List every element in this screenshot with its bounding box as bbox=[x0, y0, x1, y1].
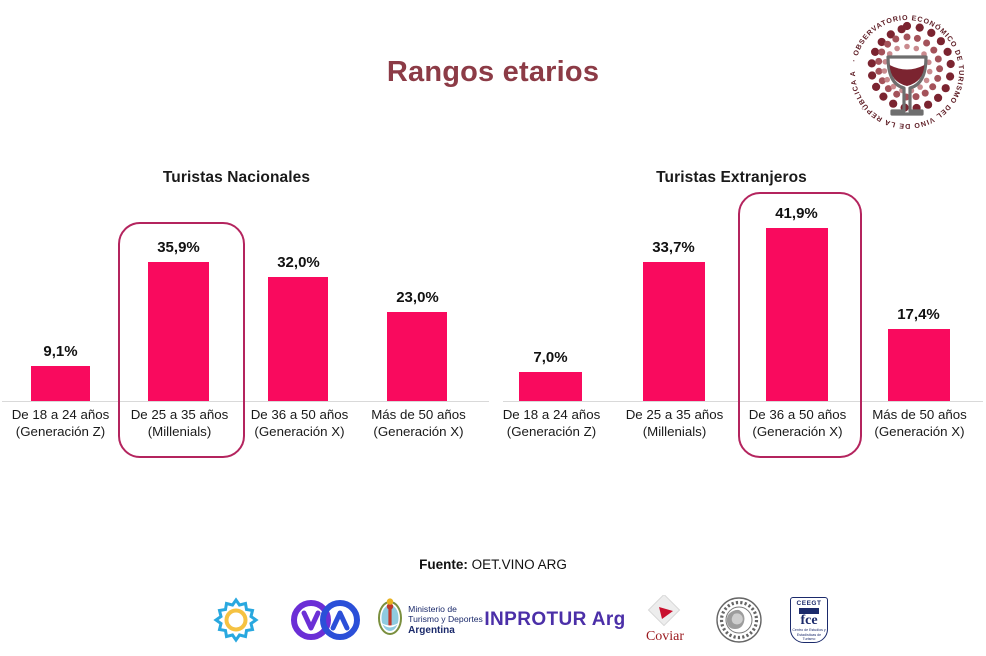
fce-label: fce bbox=[800, 614, 817, 628]
axis-baseline bbox=[503, 401, 983, 402]
bar-value-extranjeros-1: 33,7% bbox=[624, 239, 723, 256]
chart-panel-turistas-nacionales: Turistas Nacionales 9,1% 35,9% 32,0% 23,… bbox=[0, 160, 493, 460]
bar-value-nacionales-0: 9,1% bbox=[11, 343, 110, 360]
axis-baseline bbox=[2, 401, 489, 402]
bar-extranjeros-2[interactable] bbox=[766, 228, 828, 401]
bar-value-nacionales-3: 23,0% bbox=[368, 289, 467, 306]
cat-line2: (Millenials) bbox=[148, 424, 212, 439]
bar-value-nacionales-2: 32,0% bbox=[249, 254, 348, 271]
source-note: Fuente: OET.VINO ARG bbox=[0, 557, 986, 572]
coviar-logo: Coviar bbox=[632, 588, 698, 652]
inprotur-label: INPROTUR Arg bbox=[484, 609, 625, 631]
bar-value-nacionales-1: 35,9% bbox=[129, 239, 228, 256]
oet-vino-arg-seal-logo: · OBSERVATORIO ECONÓMICO DE TURISMO DEL … bbox=[843, 8, 971, 136]
footer-logo-strip: Ministerio de Turismo y Deportes Argenti… bbox=[0, 588, 986, 652]
bar-nacionales-0[interactable] bbox=[31, 366, 90, 401]
category-label-nacionales-0: De 18 a 24 años (Generación Z) bbox=[2, 406, 119, 440]
cat-line2: (Generación X) bbox=[874, 424, 964, 439]
visit-argentina-logo bbox=[285, 588, 367, 652]
bar-value-extranjeros-3: 17,4% bbox=[869, 306, 968, 323]
plot-area-nacionales: 9,1% 35,9% 32,0% 23,0% De 18 a 24 años (… bbox=[0, 160, 493, 460]
bar-nacionales-1[interactable] bbox=[148, 262, 209, 401]
ceegt-fce-logo: CEEGT fce Centro de Estudios y Estadísti… bbox=[778, 588, 840, 652]
ceegt-sub-label: Centro de Estudios y Estadísticas de Tur… bbox=[791, 628, 827, 642]
chart-panel-turistas-extranjeros: Turistas Extranjeros 7,0% 33,7% 41,9% 17… bbox=[493, 160, 986, 460]
cat-line1: De 36 a 50 años bbox=[749, 407, 847, 422]
cat-line1: De 25 a 35 años bbox=[131, 407, 229, 422]
universidad-seal-logo bbox=[706, 588, 772, 652]
source-value: OET.VINO ARG bbox=[472, 557, 567, 572]
category-label-extranjeros-1: De 25 a 35 años (Millenials) bbox=[616, 406, 733, 440]
plot-area-extranjeros: 7,0% 33,7% 41,9% 17,4% De 18 a 24 años (… bbox=[493, 160, 986, 460]
bar-value-extranjeros-2: 41,9% bbox=[747, 205, 846, 222]
sun-emblem-logo bbox=[205, 588, 267, 652]
bar-extranjeros-1[interactable] bbox=[643, 262, 705, 401]
inprotur-arg-logo: INPROTUR Arg bbox=[490, 588, 620, 652]
cat-line2: (Generación X) bbox=[254, 424, 344, 439]
category-label-nacionales-2: De 36 a 50 años (Generación X) bbox=[241, 406, 358, 440]
category-label-extranjeros-0: De 18 a 24 años (Generación Z) bbox=[493, 406, 610, 440]
ministerio-line-2: Turismo y Deportes bbox=[408, 614, 483, 624]
bar-extranjeros-3[interactable] bbox=[888, 329, 950, 401]
bar-nacionales-2[interactable] bbox=[268, 277, 328, 401]
cat-line2: (Generación Z) bbox=[507, 424, 596, 439]
ceegt-top-label: CEEGT bbox=[797, 600, 822, 607]
cat-line2: (Generación X) bbox=[752, 424, 842, 439]
cat-line1: De 18 a 24 años bbox=[503, 407, 601, 422]
cat-line1: Más de 50 años bbox=[872, 407, 967, 422]
bar-value-extranjeros-0: 7,0% bbox=[501, 349, 600, 366]
category-label-extranjeros-3: Más de 50 años (Generación X) bbox=[861, 406, 978, 440]
cat-line1: De 36 a 50 años bbox=[251, 407, 349, 422]
cat-line2: (Generación X) bbox=[373, 424, 463, 439]
cat-line1: De 18 a 24 años bbox=[12, 407, 110, 422]
ministerio-line-1: Ministerio de bbox=[408, 604, 457, 614]
bar-extranjeros-0[interactable] bbox=[519, 372, 582, 401]
page-title: Rangos etarios bbox=[0, 56, 986, 89]
ministerio-text-block: Ministerio de Turismo y Deportes Argenti… bbox=[408, 604, 483, 637]
cat-line1: De 25 a 35 años bbox=[626, 407, 724, 422]
category-label-extranjeros-2: De 36 a 50 años (Generación X) bbox=[739, 406, 856, 440]
category-label-nacionales-3: Más de 50 años (Generación X) bbox=[360, 406, 477, 440]
slide-canvas: Rangos etarios · OBSERVATORIO ECONÓMICO … bbox=[0, 0, 986, 656]
ministerio-line-3: Argentina bbox=[408, 625, 455, 636]
source-label: Fuente: bbox=[419, 557, 468, 572]
cat-line2: (Millenials) bbox=[643, 424, 707, 439]
bar-nacionales-3[interactable] bbox=[387, 312, 447, 401]
coviar-label: Coviar bbox=[646, 629, 684, 645]
cat-line2: (Generación Z) bbox=[16, 424, 105, 439]
cat-line1: Más de 50 años bbox=[371, 407, 466, 422]
ministerio-turismo-deportes-logo: Ministerio de Turismo y Deportes Argenti… bbox=[372, 588, 488, 652]
category-label-nacionales-1: De 25 a 35 años (Millenials) bbox=[121, 406, 238, 440]
